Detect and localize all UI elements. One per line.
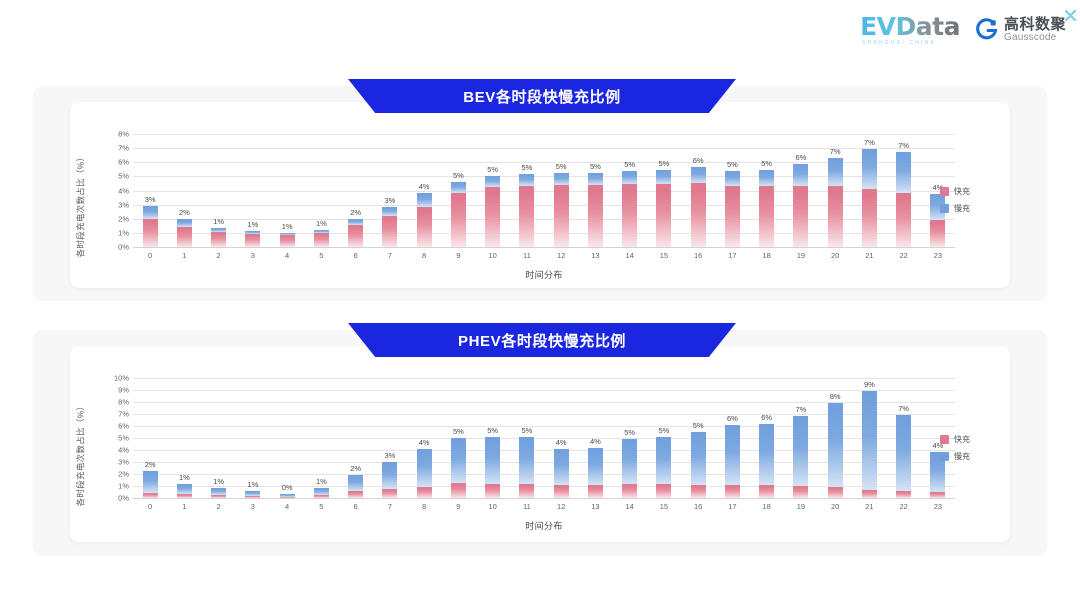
bar-data-label: 1% xyxy=(247,220,258,229)
bar-data-label: 3% xyxy=(145,195,156,204)
gausscode-mark-icon xyxy=(974,18,999,43)
bar-segment-slow-charge[interactable] xyxy=(725,425,740,484)
bar-segment-fast-charge[interactable] xyxy=(759,186,774,247)
bar-segment-fast-charge[interactable] xyxy=(280,235,295,247)
y-axis-tick-label: 9% xyxy=(118,386,129,395)
stacked-bar[interactable]: 2% xyxy=(177,219,192,247)
x-axis-tick-label: 8 xyxy=(407,502,441,511)
bar-segment-slow-charge[interactable] xyxy=(211,488,226,495)
bar-segment-slow-charge[interactable] xyxy=(554,449,569,485)
bar-segment-fast-charge[interactable] xyxy=(211,495,226,498)
bar-segment-slow-charge[interactable] xyxy=(588,448,603,485)
x-axis-tick-label: 12 xyxy=(544,502,578,511)
bar-group[interactable]: 2% xyxy=(339,378,373,498)
stacked-bar[interactable]: 6% xyxy=(793,164,808,247)
bar-data-label: 6% xyxy=(795,153,806,162)
x-axis-tick-label: 1 xyxy=(167,251,201,260)
stacked-bar[interactable]: 6% xyxy=(725,425,740,498)
phev-y-axis-ticks: 0%1%2%3%4%5%6%7%8%9%10% xyxy=(95,378,129,498)
bar-segment-slow-charge[interactable] xyxy=(143,471,158,493)
bar-segment-fast-charge[interactable] xyxy=(588,185,603,247)
bar-group[interactable]: 1% xyxy=(167,378,201,498)
x-axis-tick-label: 2 xyxy=(202,251,236,260)
stacked-bar[interactable]: 4% xyxy=(588,448,603,498)
x-axis-tick-label: 12 xyxy=(544,251,578,260)
stacked-bar[interactable]: 7% xyxy=(793,416,808,498)
y-axis-tick-label: 5% xyxy=(118,172,129,181)
bev-y-axis-ticks: 0%1%2%3%4%5%6%7%8% xyxy=(95,134,129,247)
bar-group[interactable]: 1% xyxy=(270,134,304,247)
stacked-bar[interactable]: 6% xyxy=(759,424,774,498)
bar-data-label: 3% xyxy=(384,451,395,460)
bar-segment-fast-charge[interactable] xyxy=(622,184,637,247)
phev-x-axis-ticks: 01234567891011121314151617181920212223 xyxy=(133,502,955,511)
header-logos: EVData SHANGHAI CHINA 高科数聚 Gausscode xyxy=(860,14,1066,46)
bar-segment-fast-charge[interactable] xyxy=(793,186,808,247)
legend-label-fast: 快充 xyxy=(954,186,970,197)
bar-data-label: 7% xyxy=(898,404,909,413)
x-axis-tick-label: 5 xyxy=(304,502,338,511)
x-axis-tick-label: 13 xyxy=(578,502,612,511)
x-axis-tick-label: 19 xyxy=(784,502,818,511)
bar-segment-slow-charge[interactable] xyxy=(382,462,397,489)
bar-data-label: 5% xyxy=(727,160,738,169)
stacked-bar[interactable]: 1% xyxy=(245,491,260,498)
bar-group[interactable]: 1% xyxy=(304,378,338,498)
bar-group[interactable]: 5% xyxy=(750,134,784,247)
bar-segment-fast-charge[interactable] xyxy=(177,494,192,498)
x-axis-tick-label: 13 xyxy=(578,251,612,260)
bar-segment-fast-charge[interactable] xyxy=(554,185,569,247)
bar-data-label: 6% xyxy=(761,413,772,422)
stacked-bar[interactable]: 1% xyxy=(245,231,260,247)
bar-segment-fast-charge[interactable] xyxy=(348,491,363,498)
x-axis-tick-label: 15 xyxy=(647,502,681,511)
bar-segment-slow-charge[interactable] xyxy=(656,170,671,184)
bar-segment-slow-charge[interactable] xyxy=(622,171,637,184)
bar-segment-slow-charge[interactable] xyxy=(896,415,911,491)
bar-group[interactable]: 4% xyxy=(407,134,441,247)
gausscode-name-cn: 高科数聚 xyxy=(1004,17,1066,33)
evdata-logo: EVData SHANGHAI CHINA xyxy=(860,14,960,46)
bar-segment-fast-charge[interactable] xyxy=(725,186,740,247)
gridline xyxy=(133,247,955,248)
bar-segment-slow-charge[interactable] xyxy=(725,171,740,186)
bar-data-label: 7% xyxy=(795,405,806,414)
bar-data-label: 5% xyxy=(624,160,635,169)
legend-label-slow: 慢充 xyxy=(954,451,970,462)
bar-group[interactable]: 5% xyxy=(544,134,578,247)
x-axis-tick-label: 5 xyxy=(304,251,338,260)
bar-data-label: 0% xyxy=(282,483,293,492)
bar-group[interactable]: 3% xyxy=(133,134,167,247)
bar-segment-fast-charge[interactable] xyxy=(930,220,945,247)
bar-data-label: 2% xyxy=(350,208,361,217)
x-axis-tick-label: 14 xyxy=(613,502,647,511)
bar-segment-fast-charge[interactable] xyxy=(588,485,603,498)
bar-segment-fast-charge[interactable] xyxy=(143,493,158,498)
stacked-bar[interactable]: 1% xyxy=(177,484,192,498)
stacked-bar[interactable]: 7% xyxy=(862,149,877,247)
stacked-bar[interactable]: 4% xyxy=(417,193,432,247)
gausscode-name-en: Gausscode xyxy=(1004,33,1066,44)
slow-charge-swatch-icon xyxy=(940,452,949,461)
bar-data-label: 1% xyxy=(282,222,293,231)
bar-segment-fast-charge[interactable] xyxy=(519,484,534,498)
bar-data-label: 6% xyxy=(727,414,738,423)
bar-group[interactable]: 5% xyxy=(510,378,544,498)
x-axis-tick-label: 22 xyxy=(887,502,921,511)
x-axis-tick-label: 21 xyxy=(852,502,886,511)
bar-segment-slow-charge[interactable] xyxy=(828,403,843,486)
stacked-bar[interactable]: 5% xyxy=(759,170,774,247)
bar-segment-fast-charge[interactable] xyxy=(519,186,534,247)
x-axis-tick-label: 18 xyxy=(750,251,784,260)
y-axis-tick-label: 6% xyxy=(118,158,129,167)
y-axis-tick-label: 4% xyxy=(118,446,129,455)
bar-segment-fast-charge[interactable] xyxy=(382,489,397,498)
bev-chart-title: BEV各时段快慢充比例 xyxy=(463,86,620,107)
bar-segment-slow-charge[interactable] xyxy=(485,437,500,483)
stacked-bar[interactable]: 5% xyxy=(485,437,500,498)
stacked-bar[interactable]: 2% xyxy=(143,471,158,498)
phev-y-axis-label: 各时段充电次数占比（%） xyxy=(73,374,87,534)
x-axis-tick-label: 3 xyxy=(236,502,270,511)
phev-chart: 各时段充电次数占比（%） 0%1%2%3%4%5%6%7%8%9%10% 2%1… xyxy=(75,374,955,534)
bar-segment-fast-charge[interactable] xyxy=(245,234,260,247)
bar-segment-fast-charge[interactable] xyxy=(280,497,295,498)
bar-segment-slow-charge[interactable] xyxy=(485,176,500,187)
bar-segment-fast-charge[interactable] xyxy=(382,216,397,247)
bar-group[interactable]: 1% xyxy=(236,378,270,498)
y-axis-tick-label: 7% xyxy=(118,410,129,419)
bar-segment-fast-charge[interactable] xyxy=(348,225,363,247)
bar-group[interactable]: 5% xyxy=(441,134,475,247)
bev-x-axis-label: 时间分布 xyxy=(133,268,955,281)
bar-data-label: 9% xyxy=(864,380,875,389)
stacked-bar[interactable]: 3% xyxy=(143,206,158,247)
bar-segment-fast-charge[interactable] xyxy=(656,484,671,498)
bar-segment-slow-charge[interactable] xyxy=(588,173,603,185)
bar-data-label: 1% xyxy=(213,217,224,226)
x-axis-tick-label: 6 xyxy=(339,502,373,511)
bar-data-label: 4% xyxy=(590,437,601,446)
bar-segment-slow-charge[interactable] xyxy=(417,193,432,206)
evdata-x-icon xyxy=(1064,9,1077,24)
stacked-bar[interactable]: 2% xyxy=(348,475,363,498)
y-axis-tick-label: 3% xyxy=(118,458,129,467)
stacked-bar[interactable]: 9% xyxy=(862,391,877,498)
bar-group[interactable]: 4% xyxy=(544,378,578,498)
bar-group[interactable]: 1% xyxy=(202,378,236,498)
stacked-bar[interactable]: 5% xyxy=(656,170,671,247)
bar-group[interactable]: 8% xyxy=(818,378,852,498)
bar-data-label: 1% xyxy=(316,219,327,228)
x-axis-tick-label: 17 xyxy=(715,502,749,511)
bar-segment-slow-charge[interactable] xyxy=(519,174,534,186)
bar-data-label: 5% xyxy=(693,421,704,430)
bar-data-label: 5% xyxy=(487,165,498,174)
bar-group[interactable]: 4% xyxy=(578,378,612,498)
bar-segment-fast-charge[interactable] xyxy=(862,490,877,498)
bar-segment-slow-charge[interactable] xyxy=(382,207,397,215)
stacked-bar[interactable]: 7% xyxy=(896,152,911,247)
bar-segment-slow-charge[interactable] xyxy=(417,449,432,487)
phev-x-axis-label: 时间分布 xyxy=(133,519,955,532)
bar-group[interactable]: 7% xyxy=(887,378,921,498)
bar-data-label: 1% xyxy=(213,477,224,486)
bar-segment-fast-charge[interactable] xyxy=(691,183,706,247)
bar-segment-slow-charge[interactable] xyxy=(314,488,329,495)
bar-segment-fast-charge[interactable] xyxy=(314,233,329,247)
bar-segment-fast-charge[interactable] xyxy=(896,193,911,247)
y-axis-tick-label: 1% xyxy=(118,482,129,491)
bar-data-label: 4% xyxy=(419,438,430,447)
bar-group[interactable]: 0% xyxy=(270,378,304,498)
legend-label-slow: 慢充 xyxy=(954,203,970,214)
bar-data-label: 5% xyxy=(761,159,772,168)
bar-group[interactable]: 6% xyxy=(715,378,749,498)
stacked-bar[interactable]: 5% xyxy=(725,171,740,247)
stacked-bar[interactable]: 5% xyxy=(451,182,466,247)
bar-segment-slow-charge[interactable] xyxy=(519,437,534,483)
bar-group[interactable]: 5% xyxy=(647,134,681,247)
bar-data-label: 5% xyxy=(453,427,464,436)
y-axis-tick-label: 2% xyxy=(118,470,129,479)
bar-data-label: 2% xyxy=(179,208,190,217)
stacked-bar[interactable]: 5% xyxy=(691,432,706,498)
bar-group[interactable]: 2% xyxy=(133,378,167,498)
y-axis-tick-label: 4% xyxy=(118,186,129,195)
fast-charge-swatch-icon xyxy=(940,435,949,444)
bar-data-label: 1% xyxy=(316,477,327,486)
x-axis-tick-label: 20 xyxy=(818,502,852,511)
stacked-bar[interactable]: 1% xyxy=(314,230,329,247)
bar-segment-fast-charge[interactable] xyxy=(451,483,466,498)
stacked-bar[interactable]: 0% xyxy=(280,494,295,498)
bar-segment-fast-charge[interactable] xyxy=(793,486,808,498)
bar-segment-fast-charge[interactable] xyxy=(828,186,843,247)
bar-segment-fast-charge[interactable] xyxy=(725,485,740,498)
bar-data-label: 8% xyxy=(830,392,841,401)
bar-group[interactable]: 9% xyxy=(852,378,886,498)
bar-data-label: 7% xyxy=(898,141,909,150)
stacked-bar[interactable]: 8% xyxy=(828,403,843,498)
legend-item-fast: 快充 xyxy=(940,186,970,197)
bar-segment-fast-charge[interactable] xyxy=(759,485,774,498)
legend-item-slow: 慢充 xyxy=(940,203,970,214)
bar-segment-fast-charge[interactable] xyxy=(828,487,843,498)
bar-group[interactable]: 4% xyxy=(407,378,441,498)
bar-data-label: 1% xyxy=(179,473,190,482)
bar-data-label: 4% xyxy=(556,438,567,447)
stacked-bar[interactable]: 5% xyxy=(588,173,603,247)
bar-segment-slow-charge[interactable] xyxy=(793,164,808,187)
bar-group[interactable]: 3% xyxy=(373,134,407,247)
bar-group[interactable]: 5% xyxy=(613,134,647,247)
y-axis-tick-label: 8% xyxy=(118,130,129,139)
bar-group[interactable]: 6% xyxy=(681,134,715,247)
bar-group[interactable]: 5% xyxy=(510,134,544,247)
bar-group[interactable]: 5% xyxy=(578,134,612,247)
bar-group[interactable]: 5% xyxy=(476,134,510,247)
evdata-logo-subtitle: SHANGHAI CHINA xyxy=(862,41,936,46)
bar-segment-slow-charge[interactable] xyxy=(793,416,808,486)
bar-segment-fast-charge[interactable] xyxy=(177,227,192,247)
x-axis-tick-label: 9 xyxy=(441,502,475,511)
bar-group[interactable]: 5% xyxy=(613,378,647,498)
bar-data-label: 5% xyxy=(658,159,669,168)
bev-bars: 3%2%1%1%1%1%2%3%4%5%5%5%5%5%5%5%6%5%5%6%… xyxy=(133,134,955,247)
bev-x-axis-ticks: 01234567891011121314151617181920212223 xyxy=(133,251,955,260)
bar-segment-fast-charge[interactable] xyxy=(930,492,945,498)
phev-title-banner: PHEV各时段快慢充比例 xyxy=(348,323,736,357)
bar-group[interactable]: 5% xyxy=(715,134,749,247)
bar-group[interactable]: 7% xyxy=(784,378,818,498)
legend-item-slow: 慢充 xyxy=(940,451,970,462)
bar-group[interactable]: 5% xyxy=(441,378,475,498)
bar-segment-fast-charge[interactable] xyxy=(417,487,432,498)
bar-data-label: 5% xyxy=(487,426,498,435)
bar-segment-slow-charge[interactable] xyxy=(451,438,466,483)
bar-segment-fast-charge[interactable] xyxy=(451,193,466,247)
x-axis-tick-label: 6 xyxy=(339,251,373,260)
x-axis-tick-label: 23 xyxy=(921,502,955,511)
bar-segment-fast-charge[interactable] xyxy=(417,207,432,247)
bar-group[interactable]: 1% xyxy=(202,134,236,247)
bar-group[interactable]: 5% xyxy=(476,378,510,498)
bev-title-banner: BEV各时段快慢充比例 xyxy=(348,79,736,113)
bar-segment-slow-charge[interactable] xyxy=(177,219,192,226)
bar-group[interactable]: 7% xyxy=(818,134,852,247)
bar-group[interactable]: 1% xyxy=(304,134,338,247)
bar-segment-slow-charge[interactable] xyxy=(862,391,877,490)
bar-segment-slow-charge[interactable] xyxy=(862,149,877,189)
stacked-bar[interactable]: 4% xyxy=(417,449,432,498)
phev-bars: 2%1%1%1%0%1%2%3%4%5%5%5%4%4%5%5%5%6%6%7%… xyxy=(133,378,955,498)
fast-charge-swatch-icon xyxy=(940,187,949,196)
stacked-bar[interactable]: 5% xyxy=(554,173,569,247)
stacked-bar[interactable]: 4% xyxy=(554,449,569,498)
bar-group[interactable]: 5% xyxy=(647,378,681,498)
x-axis-tick-label: 8 xyxy=(407,251,441,260)
stacked-bar[interactable]: 7% xyxy=(896,415,911,498)
stacked-bar[interactable]: 5% xyxy=(622,439,637,498)
stacked-bar[interactable]: 5% xyxy=(519,437,534,498)
bar-group[interactable]: 6% xyxy=(784,134,818,247)
bar-segment-slow-charge[interactable] xyxy=(348,475,363,491)
bev-y-axis-label: 各时段充电次数占比（%） xyxy=(73,130,87,280)
bev-legend: 快充 慢充 xyxy=(940,186,970,214)
bar-segment-fast-charge[interactable] xyxy=(622,484,637,498)
stacked-bar[interactable]: 5% xyxy=(656,437,671,498)
x-axis-tick-label: 0 xyxy=(133,502,167,511)
bar-segment-slow-charge[interactable] xyxy=(656,437,671,484)
bar-segment-fast-charge[interactable] xyxy=(143,219,158,247)
stacked-bar[interactable]: 5% xyxy=(519,174,534,247)
legend-label-fast: 快充 xyxy=(954,434,970,445)
stacked-bar[interactable]: 5% xyxy=(451,438,466,498)
bar-data-label: 5% xyxy=(521,163,532,172)
x-axis-tick-label: 2 xyxy=(202,502,236,511)
y-axis-tick-label: 1% xyxy=(118,228,129,237)
x-axis-tick-label: 3 xyxy=(236,251,270,260)
bar-segment-slow-charge[interactable] xyxy=(691,432,706,485)
bar-segment-slow-charge[interactable] xyxy=(759,424,774,485)
bar-group[interactable]: 2% xyxy=(167,134,201,247)
bar-segment-slow-charge[interactable] xyxy=(177,484,192,494)
x-axis-tick-label: 7 xyxy=(373,251,407,260)
bar-group[interactable]: 2% xyxy=(339,134,373,247)
bar-group[interactable]: 7% xyxy=(887,134,921,247)
bar-segment-slow-charge[interactable] xyxy=(828,158,843,186)
bar-segment-fast-charge[interactable] xyxy=(211,232,226,247)
bar-data-label: 5% xyxy=(521,426,532,435)
bar-segment-slow-charge[interactable] xyxy=(691,167,706,183)
x-axis-tick-label: 21 xyxy=(852,251,886,260)
bar-segment-fast-charge[interactable] xyxy=(691,485,706,498)
stacked-bar[interactable]: 5% xyxy=(622,171,637,247)
stacked-bar[interactable]: 2% xyxy=(348,219,363,247)
stacked-bar[interactable]: 3% xyxy=(382,207,397,247)
slide-page: EVData SHANGHAI CHINA 高科数聚 Gausscode xyxy=(0,0,1080,608)
y-axis-tick-label: 0% xyxy=(118,243,129,252)
bar-segment-fast-charge[interactable] xyxy=(656,184,671,247)
bar-segment-slow-charge[interactable] xyxy=(451,182,466,193)
bar-segment-slow-charge[interactable] xyxy=(143,206,158,219)
y-axis-tick-label: 10% xyxy=(114,374,129,383)
x-axis-tick-label: 11 xyxy=(510,251,544,260)
stacked-bar[interactable]: 1% xyxy=(314,488,329,498)
bar-group[interactable]: 5% xyxy=(681,378,715,498)
stacked-bar[interactable]: 1% xyxy=(280,233,295,247)
bar-group[interactable]: 3% xyxy=(373,378,407,498)
x-axis-tick-label: 4 xyxy=(270,502,304,511)
x-axis-tick-label: 18 xyxy=(750,502,784,511)
bar-segment-fast-charge[interactable] xyxy=(554,485,569,498)
stacked-bar[interactable]: 1% xyxy=(211,488,226,498)
x-axis-tick-label: 20 xyxy=(818,251,852,260)
stacked-bar[interactable]: 7% xyxy=(828,158,843,247)
bar-data-label: 5% xyxy=(556,162,567,171)
x-axis-tick-label: 4 xyxy=(270,251,304,260)
bar-segment-fast-charge[interactable] xyxy=(896,491,911,498)
bar-segment-slow-charge[interactable] xyxy=(896,152,911,192)
bar-group[interactable]: 6% xyxy=(750,378,784,498)
bar-segment-fast-charge[interactable] xyxy=(862,189,877,247)
x-axis-tick-label: 10 xyxy=(476,251,510,260)
bar-group[interactable]: 7% xyxy=(852,134,886,247)
bar-group[interactable]: 1% xyxy=(236,134,270,247)
stacked-bar[interactable]: 6% xyxy=(691,167,706,247)
bar-data-label: 5% xyxy=(658,426,669,435)
bar-data-label: 4% xyxy=(419,182,430,191)
bar-data-label: 5% xyxy=(624,428,635,437)
y-axis-tick-label: 0% xyxy=(118,494,129,503)
bar-segment-fast-charge[interactable] xyxy=(485,187,500,247)
stacked-bar[interactable]: 5% xyxy=(485,176,500,247)
bar-data-label: 3% xyxy=(384,196,395,205)
bar-segment-fast-charge[interactable] xyxy=(314,495,329,498)
stacked-bar[interactable]: 1% xyxy=(211,228,226,247)
bar-segment-fast-charge[interactable] xyxy=(485,484,500,498)
bar-segment-slow-charge[interactable] xyxy=(759,170,774,186)
bar-data-label: 7% xyxy=(830,147,841,156)
stacked-bar[interactable]: 3% xyxy=(382,462,397,498)
bar-segment-slow-charge[interactable] xyxy=(622,439,637,484)
bar-segment-fast-charge[interactable] xyxy=(245,496,260,498)
bar-segment-slow-charge[interactable] xyxy=(554,173,569,185)
